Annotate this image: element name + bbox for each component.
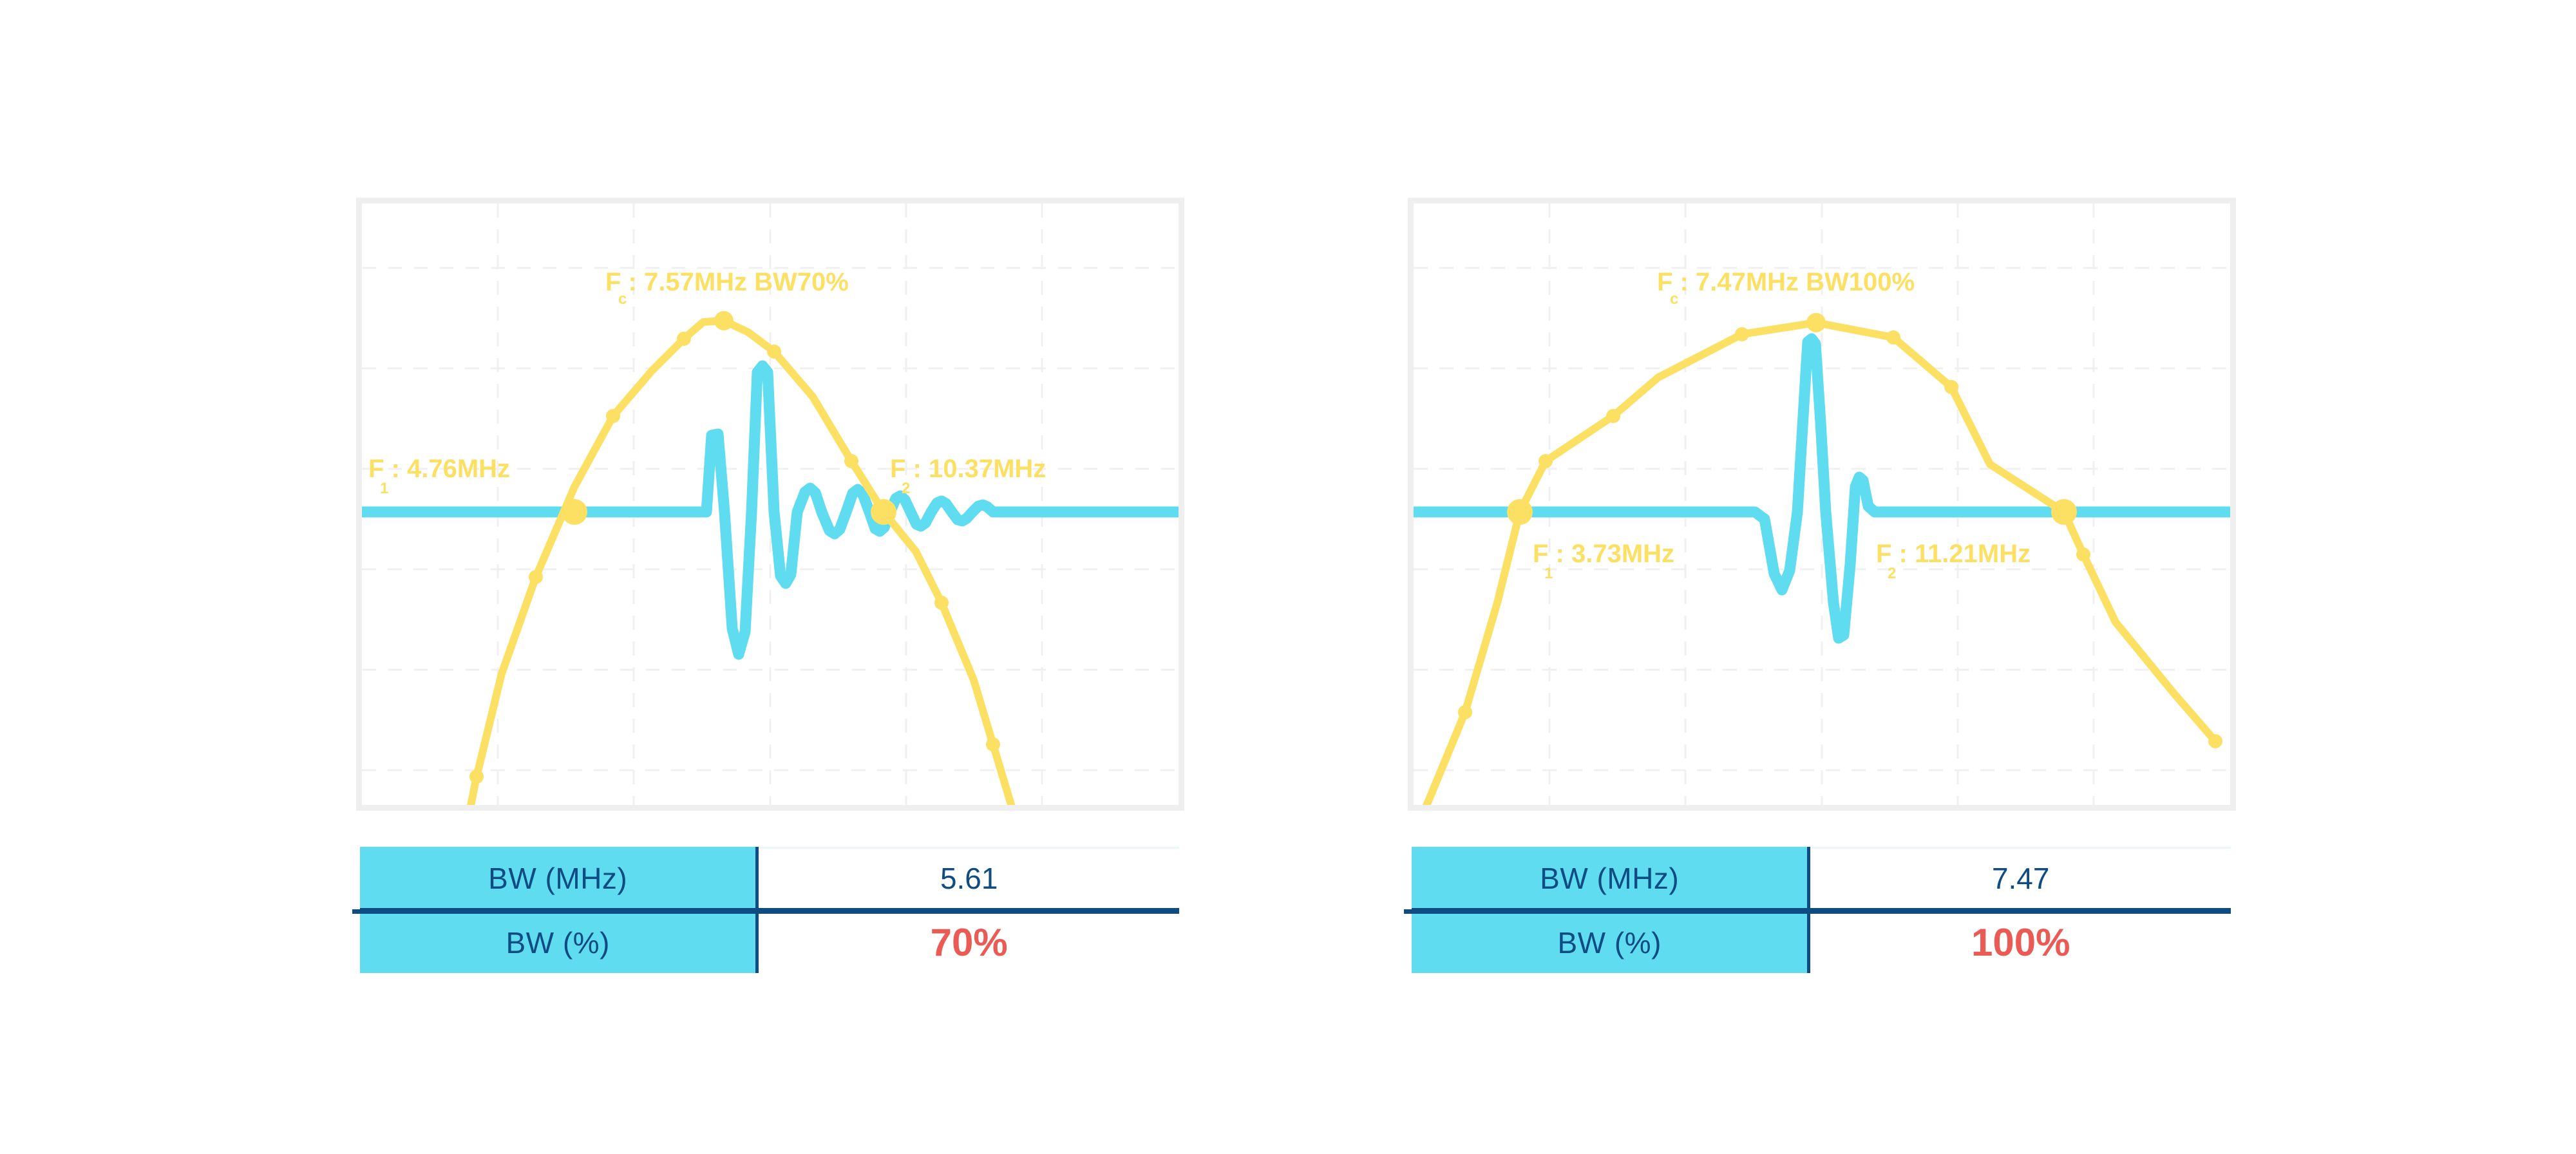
table-row: BW (%) 100% xyxy=(1412,911,2231,973)
bw-pct-value-left: 70% xyxy=(757,911,1179,973)
bw-pct-label-right: BW (%) xyxy=(1412,911,1809,973)
fc-sub-right: c xyxy=(1670,290,1678,308)
bw-mhz-value-right: 7.47 xyxy=(1809,848,2231,911)
f1-sub-right: 1 xyxy=(1544,565,1553,582)
f2-sub-right: 2 xyxy=(1888,565,1896,582)
spectrum-plot-right: F : 7.47MHz BW100% c F : 3.73MHz 1 F : 1… xyxy=(1414,203,2230,805)
annotations-right: F : 7.47MHz BW100% c F : 3.73MHz 1 F : 1… xyxy=(1533,268,2031,582)
f2-marker-left xyxy=(871,499,896,525)
chart-left: F : 7.57MHz BW70% c F : 4.76MHz 1 F : 10… xyxy=(356,198,1184,811)
f2-label-left: F : 10.37MHz xyxy=(890,455,1046,483)
waveform-trace-left xyxy=(362,366,1179,654)
bw-pct-value-right: 100% xyxy=(1809,911,2231,973)
spectrum-points-right xyxy=(1458,313,2222,748)
f2-sub-left: 2 xyxy=(902,480,910,497)
spectrum-trace-left xyxy=(470,321,1012,805)
panel-left: F : 7.57MHz BW70% c F : 4.76MHz 1 F : 10… xyxy=(0,0,1288,1154)
table-row: BW (%) 70% xyxy=(360,911,1179,973)
panel-right: F : 7.47MHz BW100% c F : 3.73MHz 1 F : 1… xyxy=(1288,0,2576,1154)
table-divider-left xyxy=(352,909,1179,914)
f1-label-right: F : 3.73MHz xyxy=(1533,540,1674,568)
fc-sub-left: c xyxy=(618,290,627,308)
spectrum-plot-left: F : 7.57MHz BW70% c F : 4.76MHz 1 F : 10… xyxy=(362,203,1179,805)
f1-label-left: F : 4.76MHz xyxy=(368,455,510,483)
f1-marker-left xyxy=(562,499,587,525)
fc-label-left: F : 7.57MHz BW70% xyxy=(605,268,849,296)
bw-pct-label-left: BW (%) xyxy=(360,911,757,973)
fc-label-right: F : 7.47MHz BW100% xyxy=(1657,268,1915,296)
f1-marker-right xyxy=(1507,499,1533,525)
chart-right: F : 7.47MHz BW100% c F : 3.73MHz 1 F : 1… xyxy=(1408,198,2236,811)
table-divider-right xyxy=(1404,909,2231,914)
bw-mhz-value-left: 5.61 xyxy=(757,848,1179,911)
table-row: BW (MHz) 7.47 xyxy=(1412,848,2231,911)
f2-label-right: F : 11.21MHz xyxy=(1876,540,2031,568)
bw-mhz-label-left: BW (MHz) xyxy=(360,848,757,911)
table-row: BW (MHz) 5.61 xyxy=(360,848,1179,911)
bw-mhz-label-right: BW (MHz) xyxy=(1412,848,1809,911)
f2-marker-right xyxy=(2051,499,2077,525)
f1-sub-left: 1 xyxy=(380,480,388,497)
